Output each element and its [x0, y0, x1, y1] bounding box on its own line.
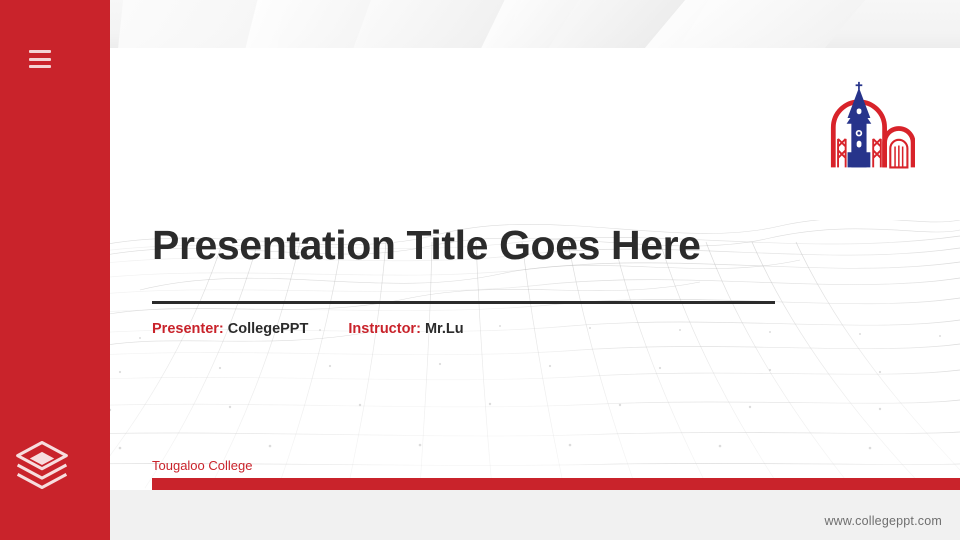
header-decoration-band — [0, 0, 960, 48]
hamburger-bar — [29, 50, 51, 53]
hamburger-menu-icon[interactable] — [29, 50, 51, 68]
presentation-viewer: Presentation Title Goes Here Presenter: … — [0, 0, 960, 540]
presenter-label: Presenter: — [152, 321, 224, 337]
instructor-label: Instructor: — [348, 321, 421, 337]
hamburger-bar — [29, 65, 51, 68]
organization-name: Tougaloo College — [152, 458, 252, 473]
instructor-value: Mr.Lu — [425, 321, 464, 337]
presentation-title: Presentation Title Goes Here — [152, 223, 852, 268]
slide-canvas: Presentation Title Goes Here Presenter: … — [80, 48, 960, 490]
presentation-meta-line: Presenter: CollegePPT Instructor: Mr.Lu — [152, 321, 464, 337]
title-divider-rule — [152, 301, 775, 304]
presenter-value: CollegePPT — [228, 321, 309, 337]
layered-stack-logo-icon[interactable] — [12, 435, 72, 495]
footer-website-url: www.collegeppt.com — [824, 514, 942, 528]
tougaloo-college-bell-tower-logo-icon — [820, 80, 915, 175]
hamburger-bar — [29, 58, 51, 61]
left-sidebar — [0, 0, 110, 540]
slide-bottom-red-bar — [152, 478, 960, 490]
